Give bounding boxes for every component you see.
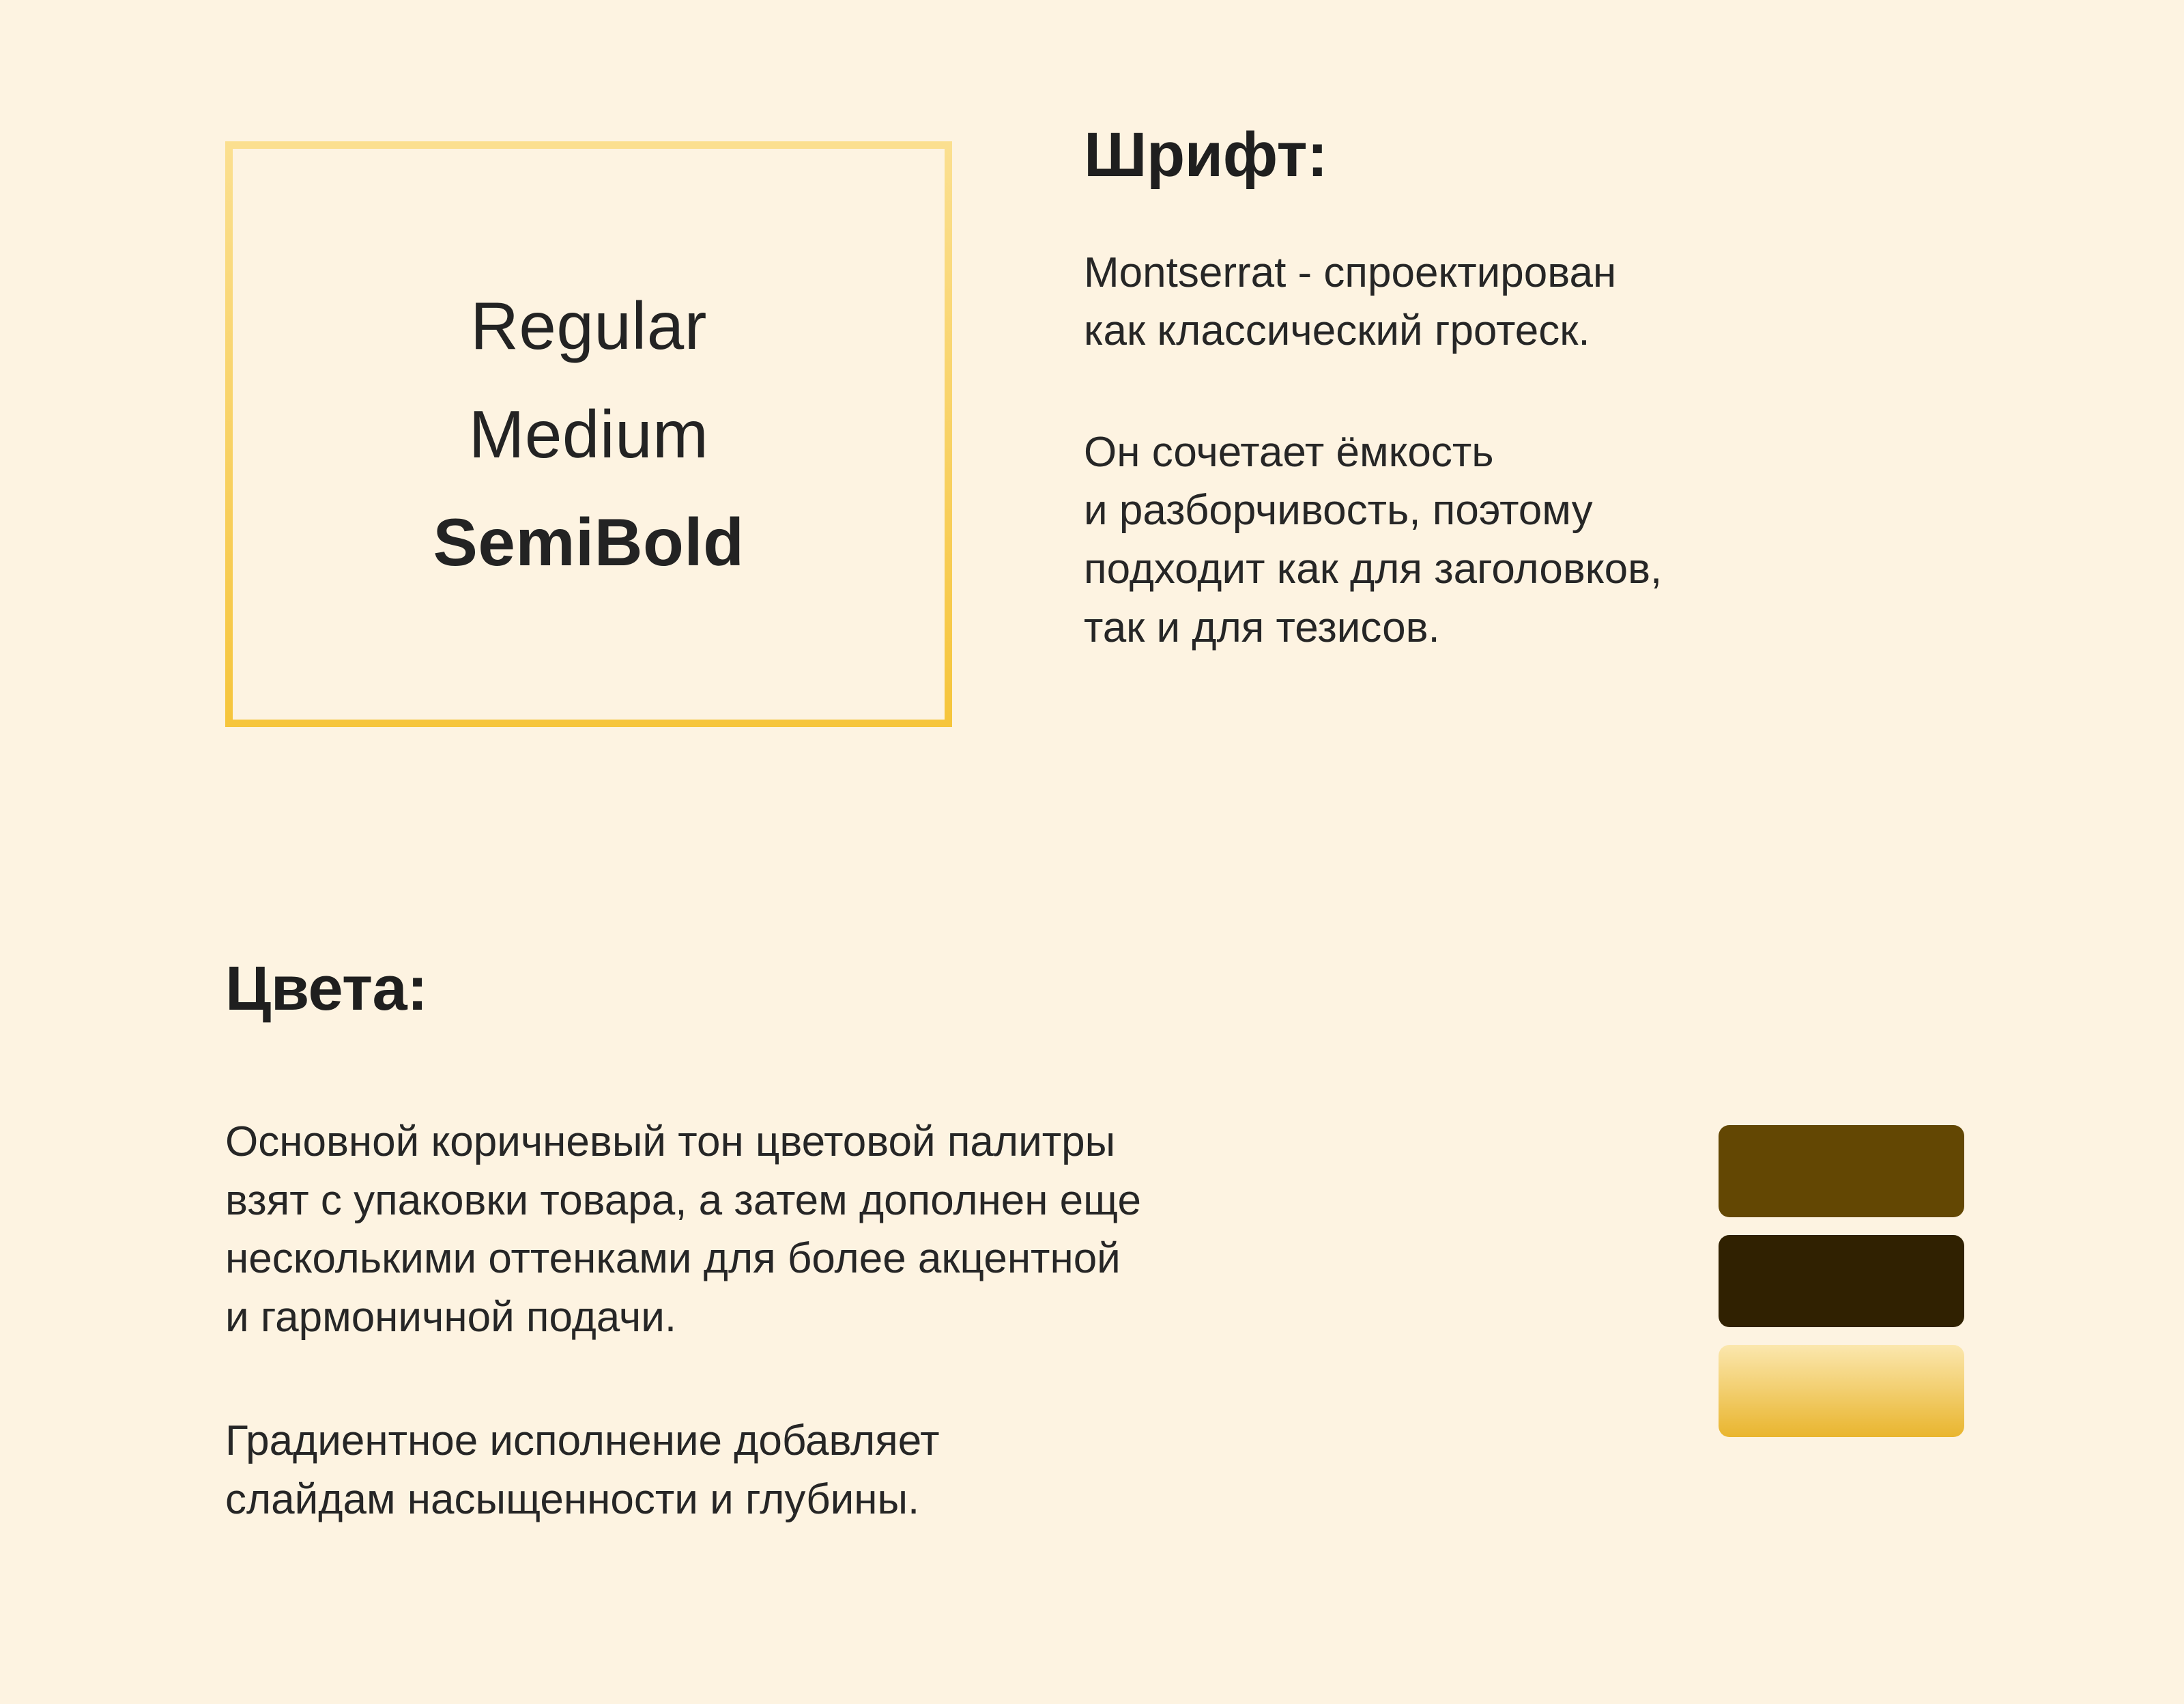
- font-section: Шрифт: Montserrat - спроектирован как кл…: [1084, 119, 2039, 657]
- font-sample-box: Regular Medium SemiBold: [225, 141, 952, 727]
- slide-canvas: Regular Medium SemiBold Шрифт: Montserra…: [0, 0, 2184, 1704]
- colors-section-paragraph-1: Основной коричневый тон цветовой палитры…: [225, 1113, 1590, 1346]
- font-section-paragraph-2: Он сочетает ёмкость и разборчивость, поэ…: [1084, 423, 2039, 657]
- colors-section: Основной коричневый тон цветовой палитры…: [225, 1113, 1590, 1529]
- font-weight-regular: Regular: [470, 272, 707, 380]
- font-section-heading: Шрифт:: [1084, 119, 2039, 192]
- colors-section-heading: Цвета:: [225, 953, 427, 1025]
- font-weight-semibold: SemiBold: [433, 488, 745, 597]
- color-swatch-stack: [1719, 1125, 1964, 1437]
- font-sample-list: Regular Medium SemiBold: [233, 272, 945, 597]
- font-section-paragraph-1: Montserrat - спроектирован как классичес…: [1084, 244, 2039, 360]
- colors-section-paragraph-2: Градиентное исполнение добавляет слайдам…: [225, 1412, 1590, 1529]
- color-swatch-primary-brown: [1719, 1125, 1964, 1217]
- color-swatch-dark-brown: [1719, 1235, 1964, 1327]
- color-swatch-gold-gradient: [1719, 1345, 1964, 1437]
- font-weight-medium: Medium: [469, 380, 709, 489]
